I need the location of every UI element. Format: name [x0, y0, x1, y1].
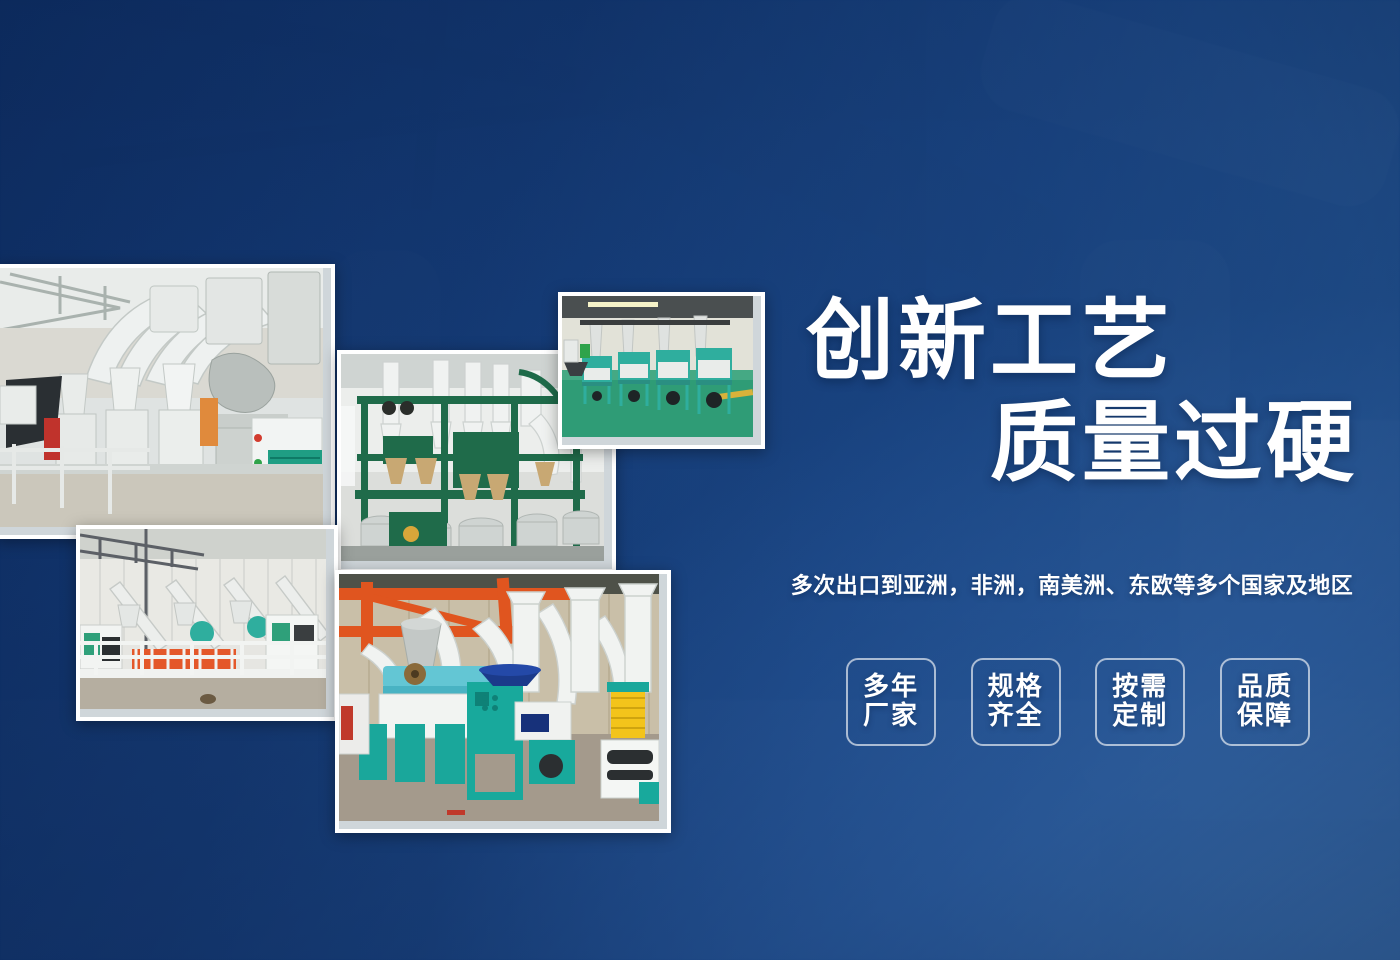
badge-1-line-2: 厂家: [863, 702, 919, 731]
photo-teal-milling-machines: [558, 292, 765, 449]
photo-1-artwork: [0, 268, 323, 527]
badge-2-line-2: 齐全: [988, 702, 1044, 731]
promo-banner: 创新工艺 质量过硬 多次出口到亚洲，非洲，南美洲、东欧等多个国家及地区 多年 厂…: [0, 0, 1400, 960]
badge-custom-made[interactable]: 按需 定制: [1095, 658, 1185, 746]
badge-2-line-1: 规格: [988, 673, 1044, 702]
badge-full-specifications[interactable]: 规格 齐全: [971, 658, 1061, 746]
badge-4-line-1: 品质: [1237, 673, 1293, 702]
badge-3-line-2: 定制: [1112, 702, 1168, 731]
photo-4-artwork: [80, 529, 326, 709]
photo-teal-machines-orange-beams: [335, 570, 671, 833]
headline-line-1: 创新工艺: [806, 296, 1360, 386]
photo-white-mill-line-orange-conveyor: [76, 525, 338, 721]
photo-3-artwork: [562, 296, 753, 437]
badge-many-years-manufacturer[interactable]: 多年 厂家: [846, 658, 936, 746]
photo-grain-processing-line: [0, 264, 335, 539]
headline-block: 创新工艺 质量过硬: [800, 296, 1360, 488]
feature-badges: 多年 厂家 规格 齐全 按需 定制 品质 保障: [846, 656, 1310, 748]
headline-line-2: 质量过硬: [800, 398, 1358, 488]
badge-1-line-1: 多年: [863, 673, 919, 702]
badge-4-line-2: 保障: [1237, 702, 1293, 731]
badge-quality-guarantee[interactable]: 品质 保障: [1220, 658, 1310, 746]
subtitle-text: 多次出口到亚洲，非洲，南美洲、东欧等多个国家及地区: [748, 568, 1396, 600]
badge-3-line-1: 按需: [1112, 673, 1168, 702]
photo-5-artwork: [339, 574, 659, 821]
